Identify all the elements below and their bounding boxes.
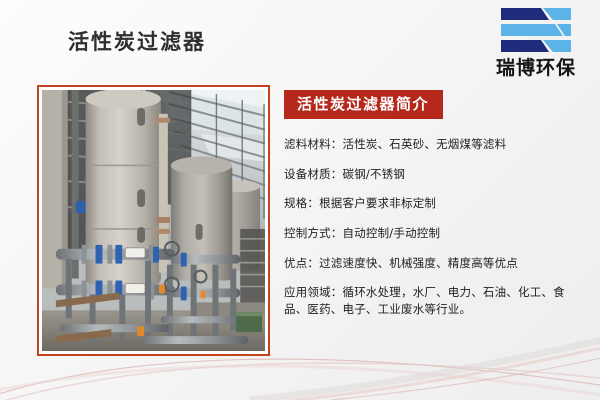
- info-banner-title: 活性炭过滤器简介: [284, 90, 443, 119]
- photo-illustration: [42, 90, 265, 351]
- product-photo-frame: [37, 85, 270, 356]
- info-panel: 活性炭过滤器简介 滤料材料：活性炭、石英砂、无烟煤等滤料 设备材质：碳钢/不锈钢…: [284, 90, 592, 318]
- spec-item-applications: 应用领域：循环水处理，水厂、电力、石油、化工、食品、医药、电子、工业废水等行业。: [284, 284, 584, 317]
- spec-item-filter-media: 滤料材料：活性炭、石英砂、无烟煤等滤料: [284, 136, 584, 153]
- spec-item-advantages: 优点：过滤速度快、机械强度、精度高等优点: [284, 255, 584, 272]
- activated-carbon-filter-tanks-photo: [42, 90, 265, 351]
- logo-mark-icon: [497, 6, 575, 56]
- page-title: 活性炭过滤器: [68, 26, 206, 56]
- spec-item-specification: 规格：根据客户要求非标定制: [284, 195, 584, 212]
- spec-item-control-mode: 控制方式：自动控制/手动控制: [284, 225, 584, 242]
- brand-logo: 瑞博环保: [480, 6, 592, 79]
- info-spec-list: 滤料材料：活性炭、石英砂、无烟煤等滤料 设备材质：碳钢/不锈钢 规格：根据客户要…: [284, 136, 592, 318]
- brand-name: 瑞博环保: [480, 58, 592, 79]
- slide-canvas: 活性炭过滤器 瑞博环保: [0, 0, 600, 400]
- spec-item-material: 设备材质：碳钢/不锈钢: [284, 166, 584, 183]
